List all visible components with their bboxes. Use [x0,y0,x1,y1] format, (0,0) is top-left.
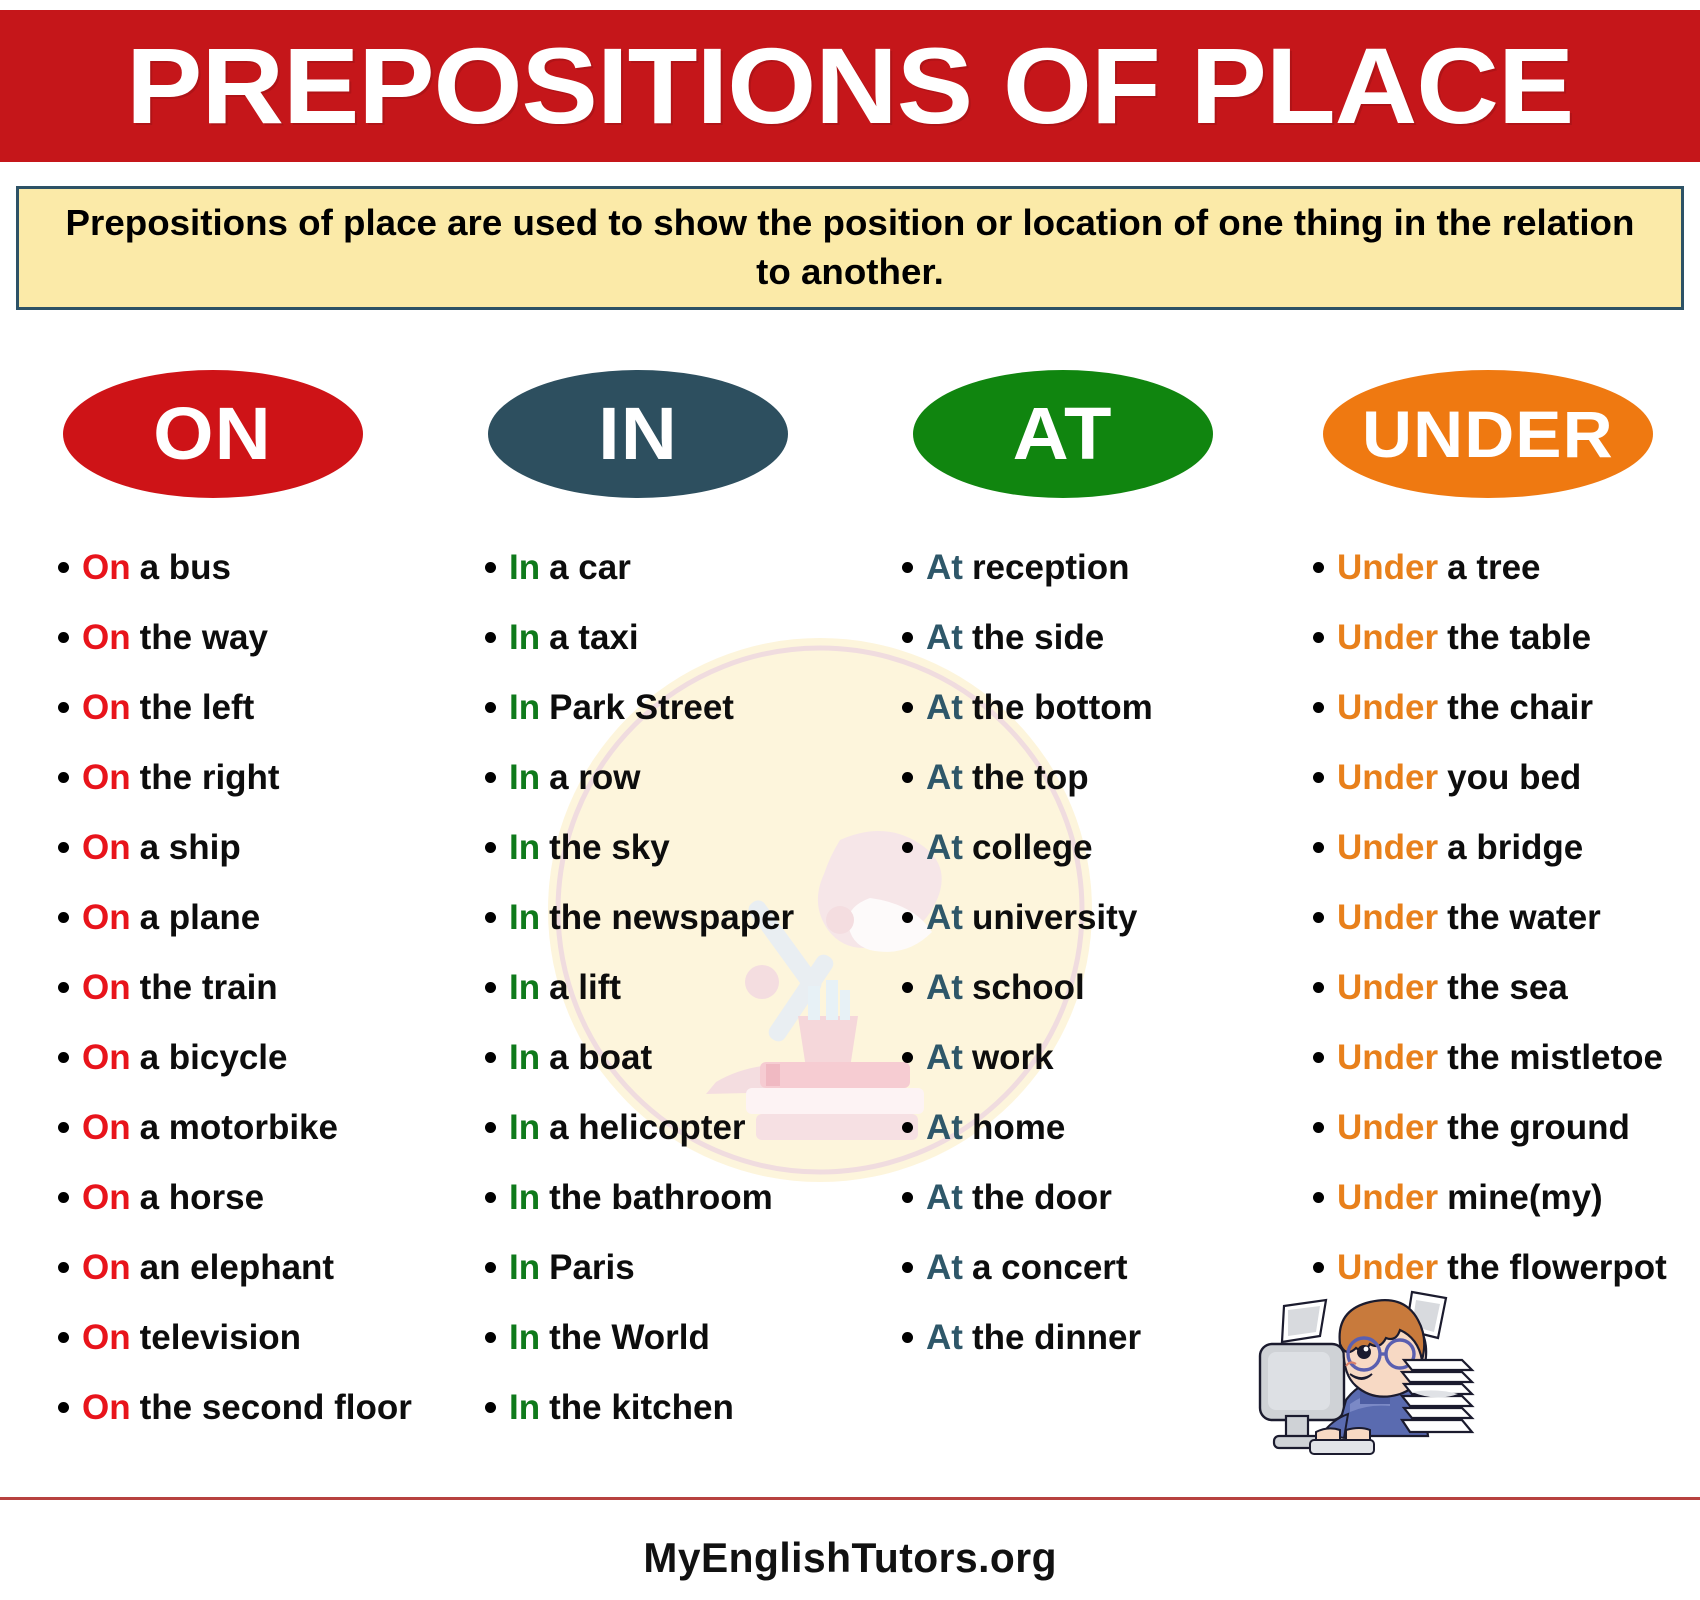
footer: MyEnglishTutors.org [0,1534,1700,1582]
list-item: Inthe World [455,1302,850,1372]
list-item: Ona motorbike [28,1092,425,1162]
page-title: PREPOSITIONS OF PLACE [126,32,1573,140]
boy-at-computer-with-papers-icon [1254,1288,1584,1468]
phrase-complement: an elephant [140,1250,334,1285]
list-item: Underthe chair [1283,672,1700,742]
phrase-complement: home [972,1110,1065,1145]
preposition-word: On [82,690,131,725]
preposition-word: Under [1337,690,1438,725]
list-item: Atreception [872,532,1275,602]
phrase-complement: a lift [549,970,621,1005]
phrase-complement: the bottom [972,690,1153,725]
phrase-complement: the train [140,970,278,1005]
preposition-word: In [509,620,540,655]
phrase-complement: a car [549,550,631,585]
list-item: Onthe right [28,742,425,812]
phrase-complement: the sea [1447,970,1568,1005]
list-item: Ina car [455,532,850,602]
preposition-word: Under [1337,620,1438,655]
phrase-complement: the chair [1447,690,1593,725]
list-item: Underyou bed [1283,742,1700,812]
preposition-word: On [82,620,131,655]
preposition-word: In [509,900,540,935]
list-item: Ontelevision [28,1302,425,1372]
phrase-complement: the sky [549,830,670,865]
list-in: Ina carIna taxiInPark StreetIna rowInthe… [425,532,850,1442]
list-item: Atthe side [872,602,1275,672]
preposition-word: At [926,1110,963,1145]
definition-box: Prepositions of place are used to show t… [16,186,1684,310]
preposition-word: Under [1337,550,1438,585]
phrase-complement: the newspaper [549,900,794,935]
column-at: AT AtreceptionAtthe sideAtthe bottomAtth… [850,370,1275,1490]
site-brand: MyEnglishTutors.org [643,1534,1057,1582]
preposition-word: Under [1337,1180,1438,1215]
list-item: Atthe top [872,742,1275,812]
list-item: Onthe way [28,602,425,672]
list-item: Ona plane [28,882,425,952]
list-item: Underthe ground [1283,1092,1700,1162]
list-item: Underthe table [1283,602,1700,672]
preposition-word: On [82,1040,131,1075]
phrase-complement: school [972,970,1085,1005]
preposition-word: At [926,1040,963,1075]
preposition-word: At [926,1180,963,1215]
list-item: Undermine(my) [1283,1162,1700,1232]
list-item: Inthe newspaper [455,882,850,952]
phrase-complement: the flowerpot [1447,1250,1667,1285]
list-item: Onthe train [28,952,425,1022]
list-item: Atuniversity [872,882,1275,952]
preposition-word: At [926,760,963,795]
list-item: Ina taxi [455,602,850,672]
preposition-word: In [509,1320,540,1355]
preposition-word: At [926,970,963,1005]
list-item: Ona horse [28,1162,425,1232]
pill-in: IN [488,370,788,498]
preposition-word: At [926,900,963,935]
list-item: Ona ship [28,812,425,882]
preposition-word: At [926,620,963,655]
phrase-complement: the kitchen [549,1390,734,1425]
preposition-word: At [926,690,963,725]
list-item: Ata concert [872,1232,1275,1302]
title-banner: PREPOSITIONS OF PLACE [0,10,1700,162]
list-item: Ona bicycle [28,1022,425,1092]
preposition-word: On [82,550,131,585]
preposition-word: In [509,550,540,585]
preposition-word: Under [1337,760,1438,795]
list-item: Ona bus [28,532,425,602]
list-item: Atthe door [872,1162,1275,1232]
preposition-word: Under [1337,970,1438,1005]
phrase-complement: the bathroom [549,1180,773,1215]
phrase-complement: Park Street [549,690,734,725]
phrase-complement: the water [1447,900,1601,935]
phrase-complement: the left [140,690,255,725]
preposition-word: In [509,830,540,865]
preposition-word: At [926,830,963,865]
preposition-word: In [509,1040,540,1075]
preposition-word: In [509,1180,540,1215]
phrase-complement: a bus [140,550,231,585]
preposition-word: In [509,1390,540,1425]
phrase-complement: the right [140,760,280,795]
footer-divider [0,1497,1700,1500]
phrase-complement: the table [1447,620,1591,655]
phrase-complement: work [972,1040,1054,1075]
list-under: Undera treeUnderthe tableUnderthe chairU… [1275,532,1700,1302]
list-item: Onthe left [28,672,425,742]
list-item: Atcollege [872,812,1275,882]
preposition-word: On [82,1250,131,1285]
list-item: Ina row [455,742,850,812]
phrase-complement: a motorbike [140,1110,338,1145]
preposition-word: At [926,550,963,585]
list-item: Atschool [872,952,1275,1022]
infographic-page: PREPOSITIONS OF PLACE Prepositions of pl… [0,0,1700,1600]
preposition-word: On [82,1320,131,1355]
phrase-complement: a plane [140,900,261,935]
phrase-complement: you bed [1447,760,1581,795]
preposition-word: On [82,1390,131,1425]
phrase-complement: a bicycle [140,1040,288,1075]
phrase-complement: a boat [549,1040,652,1075]
list-item: Atthe dinner [872,1302,1275,1372]
phrase-complement: the World [549,1320,710,1355]
list-item: Inthe kitchen [455,1372,850,1442]
list-item: Atthe bottom [872,672,1275,742]
list-item: Underthe sea [1283,952,1700,1022]
preposition-word: In [509,690,540,725]
pill-at-label: AT [1013,397,1113,471]
preposition-word: In [509,760,540,795]
phrase-complement: the side [972,620,1104,655]
phrase-complement: a taxi [549,620,639,655]
phrase-complement: reception [972,550,1130,585]
phrase-complement: a horse [140,1180,265,1215]
preposition-word: At [926,1250,963,1285]
list-item: Onan elephant [28,1232,425,1302]
pill-on: ON [63,370,363,498]
preposition-word: On [82,830,131,865]
list-item: Inthe bathroom [455,1162,850,1232]
preposition-word: On [82,1110,131,1145]
definition-text: Prepositions of place are used to show t… [43,199,1657,296]
preposition-word: In [509,970,540,1005]
preposition-word: On [82,970,131,1005]
preposition-word: Under [1337,1040,1438,1075]
list-item: Inthe sky [455,812,850,882]
list-item: Undera tree [1283,532,1700,602]
phrase-complement: a row [549,760,640,795]
preposition-word: On [82,760,131,795]
phrase-complement: a helicopter [549,1110,745,1145]
phrase-complement: the ground [1447,1110,1630,1145]
list-at: AtreceptionAtthe sideAtthe bottomAtthe t… [850,532,1275,1372]
list-item: Underthe mistletoe [1283,1022,1700,1092]
phrase-complement: college [972,830,1093,865]
preposition-word: Under [1337,1250,1438,1285]
pill-in-label: IN [598,397,678,471]
preposition-word: On [82,900,131,935]
phrase-complement: a ship [140,830,241,865]
list-item: Onthe second floor [28,1372,425,1442]
pill-at: AT [913,370,1213,498]
preposition-word: At [926,1320,963,1355]
list-item: InParis [455,1232,850,1302]
list-item: Underthe water [1283,882,1700,952]
column-on: ON Ona busOnthe wayOnthe leftOnthe right… [0,370,425,1490]
phrase-complement: university [972,900,1137,935]
phrase-complement: the dinner [972,1320,1141,1355]
pill-under: UNDER [1323,370,1653,498]
phrase-complement: the mistletoe [1447,1040,1663,1075]
list-item: Ina helicopter [455,1092,850,1162]
list-item: Athome [872,1092,1275,1162]
list-item: InPark Street [455,672,850,742]
phrase-complement: a bridge [1447,830,1583,865]
pill-on-label: ON [153,397,272,471]
phrase-complement: mine(my) [1447,1180,1603,1215]
phrase-complement: Paris [549,1250,635,1285]
list-item: Undera bridge [1283,812,1700,882]
phrase-complement: the way [140,620,268,655]
phrase-complement: television [140,1320,301,1355]
phrase-complement: the second floor [140,1390,412,1425]
preposition-word: Under [1337,1110,1438,1145]
phrase-complement: a tree [1447,550,1540,585]
phrase-complement: the top [972,760,1089,795]
list-item: Atwork [872,1022,1275,1092]
preposition-word: Under [1337,830,1438,865]
list-item: Ina lift [455,952,850,1022]
preposition-word: Under [1337,900,1438,935]
preposition-word: On [82,1180,131,1215]
preposition-word: In [509,1250,540,1285]
column-in: IN Ina carIna taxiInPark StreetIna rowIn… [425,370,850,1490]
preposition-word: In [509,1110,540,1145]
phrase-complement: a concert [972,1250,1128,1285]
list-item: Ina boat [455,1022,850,1092]
phrase-complement: the door [972,1180,1112,1215]
list-on: Ona busOnthe wayOnthe leftOnthe rightOna… [0,532,425,1442]
pill-under-label: UNDER [1362,401,1614,467]
